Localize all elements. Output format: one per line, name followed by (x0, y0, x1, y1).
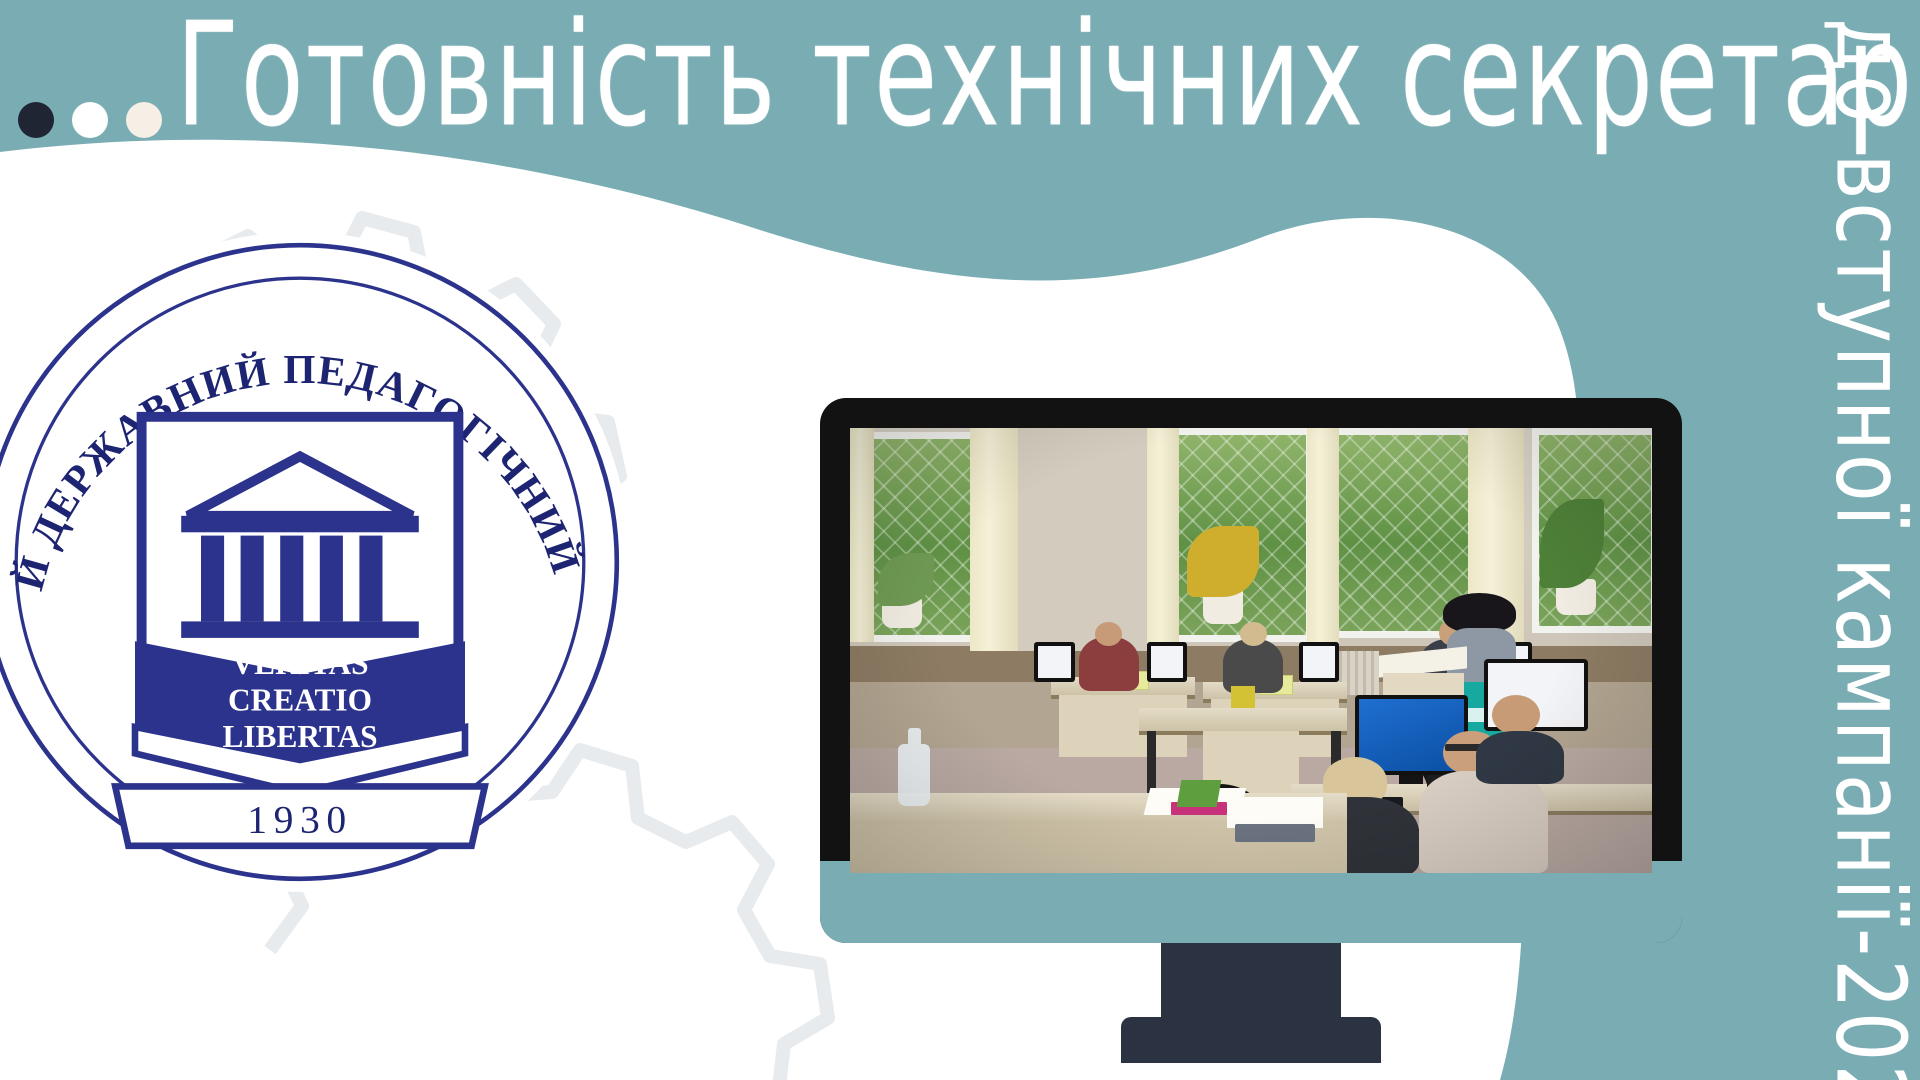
classroom-photo (850, 428, 1652, 873)
emblem-motto-3: LIBERTAS (222, 719, 377, 754)
person-back-2-head (1240, 622, 1267, 646)
admission-badge: ВСТУП АБІТУРІЄНТ ЄДЕБО ЗНО КДПУ (0, 232, 630, 892)
person-back-2 (1223, 639, 1283, 692)
decorative-dots (18, 102, 162, 138)
monitor-stand (1161, 943, 1341, 1063)
monitor-mockup (820, 398, 1682, 943)
person-right-head (1492, 695, 1540, 735)
emblem-motto-2: CREATIO (228, 683, 372, 718)
emblem-motto-1: VERITAS (231, 646, 368, 681)
monitor-screen (850, 428, 1652, 873)
poster-canvas: Готовність технічних секретарів до вступ… (0, 0, 1920, 1080)
dot-dark-icon (18, 102, 54, 138)
university-emblem: КРИВОРІЗЬКИЙ ДЕРЖАВНИЙ ПЕДАГОГІЧНИЙ УНІВ… (0, 232, 630, 892)
dot-white-icon (72, 102, 108, 138)
monitor-back-1 (1034, 642, 1074, 682)
vertical-subtitle: до вступної кампанії-2021 (1782, 18, 1914, 1068)
vertical-subtitle-text: до вступної кампанії-2021 (1814, 18, 1920, 1080)
emblem-year: 1930 (247, 798, 353, 842)
standing-person-hair (1443, 593, 1515, 633)
sanitizer-bottle (898, 744, 930, 806)
person-front-man-body (1419, 771, 1547, 873)
person-right-body (1476, 731, 1564, 784)
monitor-chin (820, 861, 1682, 943)
page-title: Готовність технічних секретарів (176, 4, 1354, 147)
monitor-back-2 (1147, 642, 1187, 682)
dot-cream-icon (126, 102, 162, 138)
person-back-1-head (1095, 622, 1122, 646)
green-card (1176, 780, 1221, 807)
monitor-back-3 (1299, 642, 1339, 682)
